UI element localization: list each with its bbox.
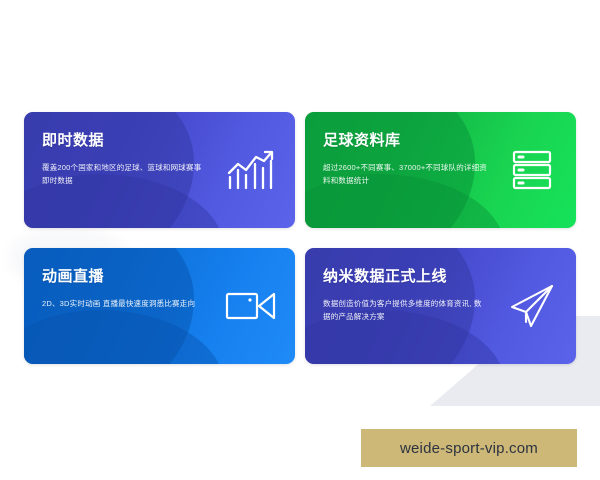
feature-card-live-data[interactable]: 即时数据 覆盖200个国家和地区的足球、篮球和网球赛事即时数据 [24, 112, 295, 228]
feature-card-grid: 即时数据 覆盖200个国家和地区的足球、篮球和网球赛事即时数据 [24, 112, 576, 364]
card-title: 足球资料库 [323, 132, 487, 150]
card-description: 超过2600+不同赛事、37000+不同球队的详细资料和数据统计 [323, 161, 487, 187]
card-body: 纳米数据正式上线 数据创造价值为客户提供多维度的体育资讯, 数据的产品解决方案 [305, 248, 505, 323]
page-root: 即时数据 覆盖200个国家和地区的足球、篮球和网球赛事即时数据 [0, 0, 600, 480]
card-body: 足球资料库 超过2600+不同赛事、37000+不同球队的详细资料和数据统计 [305, 112, 505, 187]
card-title: 即时数据 [42, 132, 206, 150]
paper-plane-icon [504, 282, 560, 330]
card-description: 覆盖200个国家和地区的足球、篮球和网球赛事即时数据 [42, 161, 206, 187]
card-title: 动画直播 [42, 268, 206, 286]
card-description: 2D、3D实时动画 直播最快速度洞悉比赛走向 [42, 297, 206, 310]
feature-card-nano-data-launch[interactable]: 纳米数据正式上线 数据创造价值为客户提供多维度的体育资讯, 数据的产品解决方案 [305, 248, 576, 364]
card-body: 动画直播 2D、3D实时动画 直播最快速度洞悉比赛走向 [24, 248, 224, 310]
site-watermark-text: weide-sport-vip.com [400, 440, 538, 457]
card-body: 即时数据 覆盖200个国家和地区的足球、篮球和网球赛事即时数据 [24, 112, 224, 187]
feature-card-animation-live[interactable]: 动画直播 2D、3D实时动画 直播最快速度洞悉比赛走向 [24, 248, 295, 364]
video-camera-icon [223, 282, 279, 330]
feature-card-football-database[interactable]: 足球资料库 超过2600+不同赛事、37000+不同球队的详细资料和数据统计 [305, 112, 576, 228]
bar-chart-trend-icon [223, 146, 279, 194]
card-title: 纳米数据正式上线 [323, 268, 487, 286]
server-rack-icon [504, 146, 560, 194]
card-wave-shape-secondary [24, 310, 224, 364]
site-watermark: weide-sport-vip.com [361, 429, 577, 467]
card-description: 数据创造价值为客户提供多维度的体育资讯, 数据的产品解决方案 [323, 297, 487, 323]
